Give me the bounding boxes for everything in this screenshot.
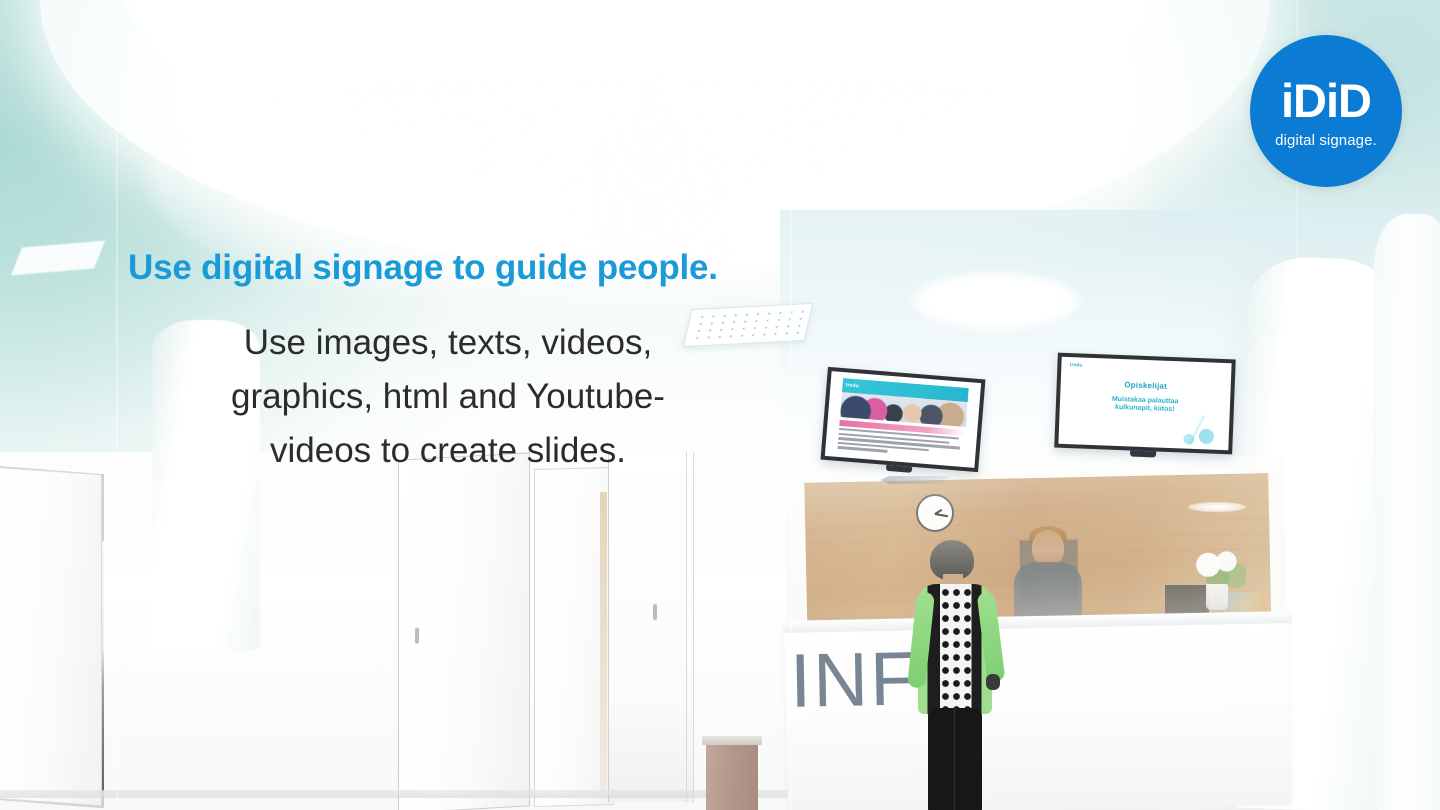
baseboard (0, 790, 810, 798)
visitor-jacket-pattern (940, 586, 972, 714)
body-line-3: videos to create slides. (118, 424, 778, 478)
logo-wordmark: iDiD (1281, 77, 1371, 124)
panorama-seam (790, 0, 792, 810)
wall-monitor-right: tredu Opiskelijat Muistakaa palauttaa ku… (1054, 353, 1236, 455)
visitor-hand (986, 674, 1000, 690)
door-handle-icon (653, 604, 657, 620)
wall-corner-line (686, 452, 687, 802)
door-jamb (600, 492, 607, 792)
door-left (0, 466, 102, 806)
page-title: Use digital signage to guide people. (128, 248, 718, 288)
visitor-person (912, 540, 1000, 810)
visitor-legs (928, 708, 982, 810)
body-line-2: graphics, html and Youtube- (118, 370, 778, 424)
trash-bin (706, 742, 758, 810)
wall-monitor-right-mount (1130, 450, 1156, 457)
door-open (398, 452, 530, 810)
slide-canvas: INFO tredu (0, 0, 1440, 810)
wall-monitor-right-screen: tredu Opiskelijat Muistakaa palauttaa ku… (1058, 357, 1231, 450)
wall-monitor-left: tredu (821, 367, 986, 472)
left-screen-brand: tredu (845, 382, 859, 389)
body-copy: Use images, texts, videos, graphics, htm… (118, 316, 778, 478)
logo-tagline: digital signage. (1275, 132, 1377, 149)
column-far-right (1374, 214, 1440, 810)
right-screen-title: Opiskelijat (1061, 378, 1231, 394)
right-screen-brand: tredu (1070, 362, 1083, 368)
door-handle-icon (415, 628, 419, 644)
door-frame (608, 452, 694, 802)
trash-bin-lid (702, 736, 762, 745)
right-screen-decoration (1166, 414, 1225, 446)
ceiling-lamp-core (930, 282, 1058, 318)
body-line-1: Use images, texts, videos, (118, 316, 778, 370)
idid-logo: iDiD digital signage. (1250, 35, 1402, 187)
wall-monitor-left-screen: tredu (825, 371, 981, 468)
right-screen-subtitle: Muistakaa palauttaa kulkunapit, kiitos! (1060, 393, 1231, 417)
